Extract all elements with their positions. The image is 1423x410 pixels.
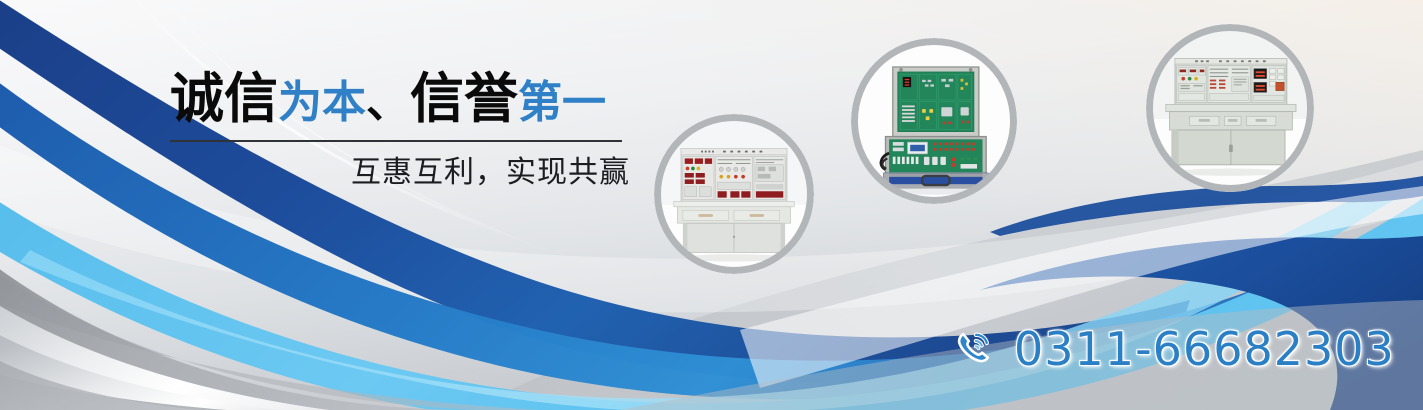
product-photo-training-case [858,45,1010,197]
product-circle-control-bench [1146,24,1314,192]
headline-part1: 诚信 [170,69,278,129]
portable-electronics-training-case-illustration [858,45,1010,197]
headline-block: 诚信为本、信誉第一 互惠互利，实现共赢 [170,68,630,192]
page-title: 诚信为本、信誉第一 [170,68,630,134]
headline-accent2: 第一 [518,78,606,127]
electrical-control-training-bench-illustration [1153,31,1307,185]
headline-divider [170,140,622,142]
promo-banner: 诚信为本、信誉第一 互惠互利，实现共赢 [0,0,1423,410]
product-circle-workbench [654,114,814,274]
product-photo-control-bench [1153,31,1307,185]
phone-call-icon[interactable] [952,325,1000,373]
electrical-training-workbench-illustration [661,121,807,267]
phone-number[interactable]: 0311-66682303 [1014,325,1395,373]
product-photo-workbench [661,121,807,267]
contact-phone-block[interactable]: 0311-66682303 [952,325,1395,373]
headline-punctuation: 、 [366,78,410,127]
product-circle-training-case [851,38,1017,204]
headline-accent1: 为本 [278,78,366,127]
subtitle: 互惠互利，实现共赢 [170,154,630,192]
headline-part2: 信誉 [410,69,518,129]
